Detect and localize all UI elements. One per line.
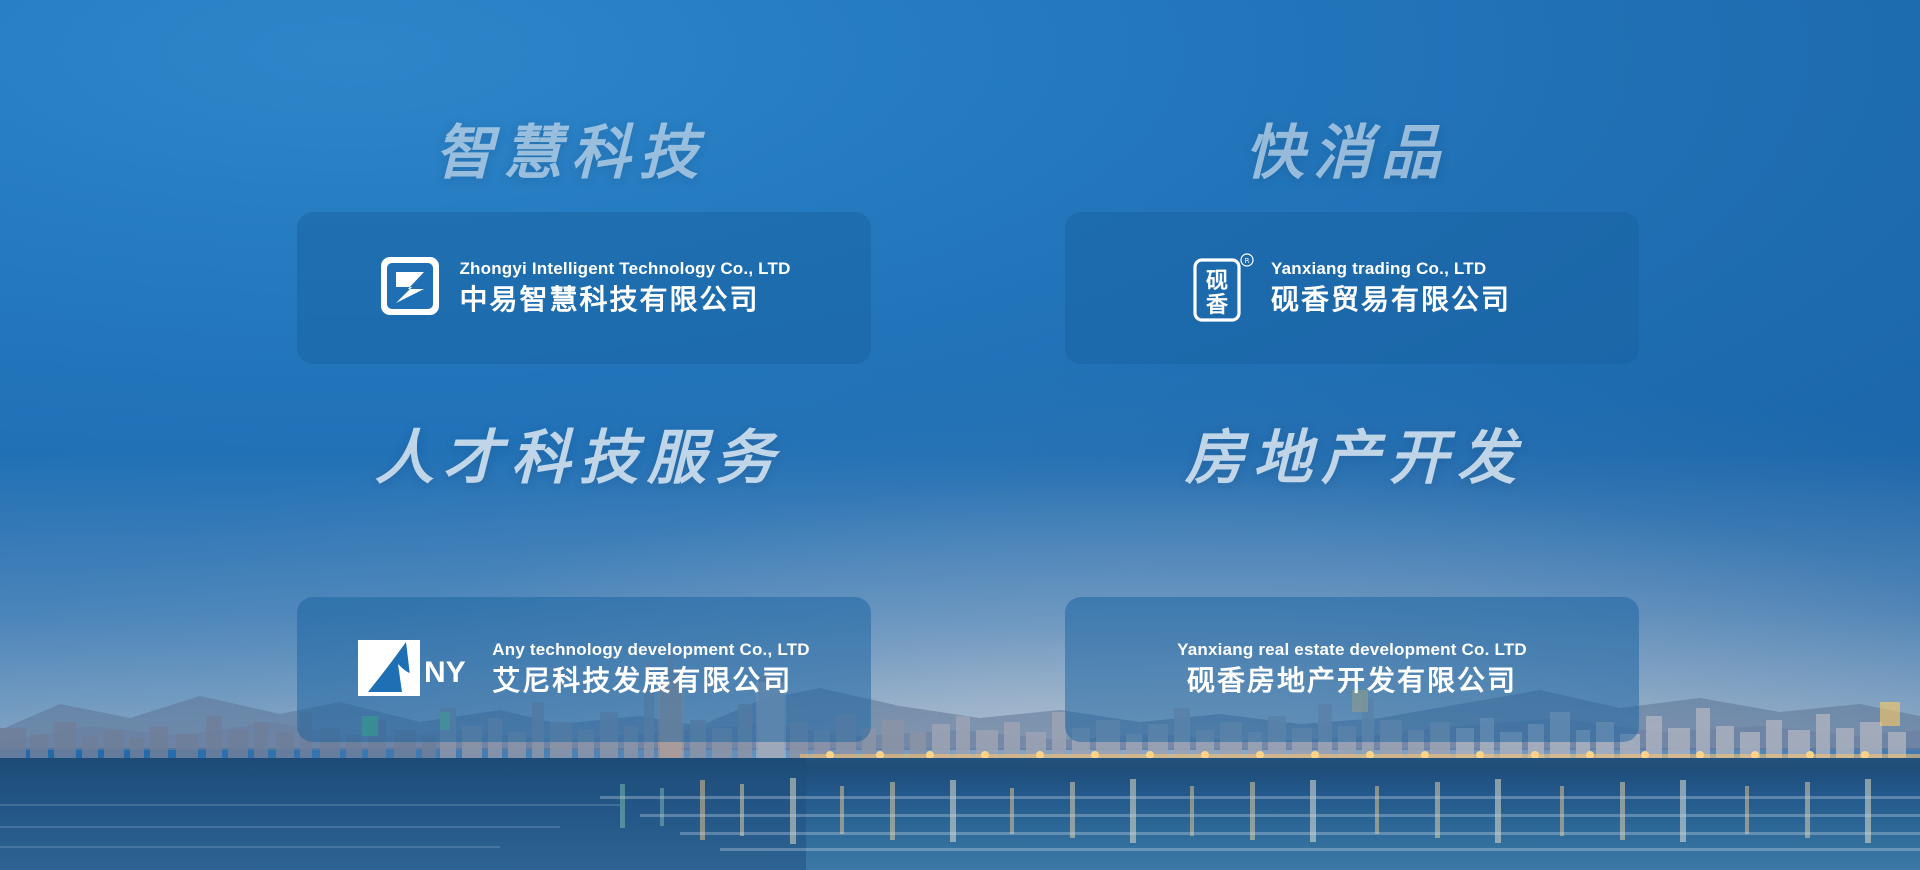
section-title-smart-technology: 智慧科技 xyxy=(435,105,707,190)
company-card-yanxiang-trading[interactable]: 砚 香 R Yanxiang trading Co., LTD 砚香贸易有限公司 xyxy=(1065,212,1639,364)
zhongyi-name-block: Zhongyi Intelligent Technology Co., LTD … xyxy=(459,258,790,319)
company-name-cn: 砚香贸易有限公司 xyxy=(1271,281,1511,319)
company-card-yanxiang-real-estate[interactable]: Yanxiang real estate development Co. LTD… xyxy=(1065,597,1639,742)
yanxiang-seal-logo-icon: 砚 香 R xyxy=(1193,250,1255,327)
svg-text:香: 香 xyxy=(1206,293,1228,318)
yanxiang-real-estate-name-block: Yanxiang real estate development Co. LTD… xyxy=(1177,639,1527,700)
section-title-fmcg: 快消品 xyxy=(1245,105,1449,190)
company-card-any-technology[interactable]: NY Any technology development Co., LTD 艾… xyxy=(297,597,871,742)
zhongyi-z-logo-icon xyxy=(377,253,443,324)
svg-text:R: R xyxy=(1245,257,1250,265)
company-name-cn: 艾尼科技发展有限公司 xyxy=(492,662,809,700)
company-name-en: Yanxiang real estate development Co. LTD xyxy=(1177,639,1527,662)
section-title-talent-services: 人才科技服务 xyxy=(375,410,783,495)
water-reflections xyxy=(0,774,1920,870)
any-technology-name-block: Any technology development Co., LTD 艾尼科技… xyxy=(492,639,809,700)
yanxiang-trading-name-block: Yanxiang trading Co., LTD 砚香贸易有限公司 xyxy=(1271,258,1511,319)
company-name-cn: 砚香房地产开发有限公司 xyxy=(1187,662,1517,700)
company-card-zhongyi[interactable]: Zhongyi Intelligent Technology Co., LTD … xyxy=(297,212,871,364)
svg-text:砚: 砚 xyxy=(1206,269,1228,294)
company-name-en: Yanxiang trading Co., LTD xyxy=(1271,258,1511,281)
section-title-real-estate: 房地产开发 xyxy=(1185,410,1525,495)
company-name-en: Any technology development Co., LTD xyxy=(492,639,809,662)
svg-text:NY: NY xyxy=(424,656,466,689)
company-name-en: Zhongyi Intelligent Technology Co., LTD xyxy=(459,258,790,281)
hero-banner: 智慧科技 Zhongyi Intelligent Technology Co.,… xyxy=(0,0,1920,870)
company-name-cn: 中易智慧科技有限公司 xyxy=(459,281,790,319)
any-mountain-logo-icon: NY xyxy=(358,634,476,705)
